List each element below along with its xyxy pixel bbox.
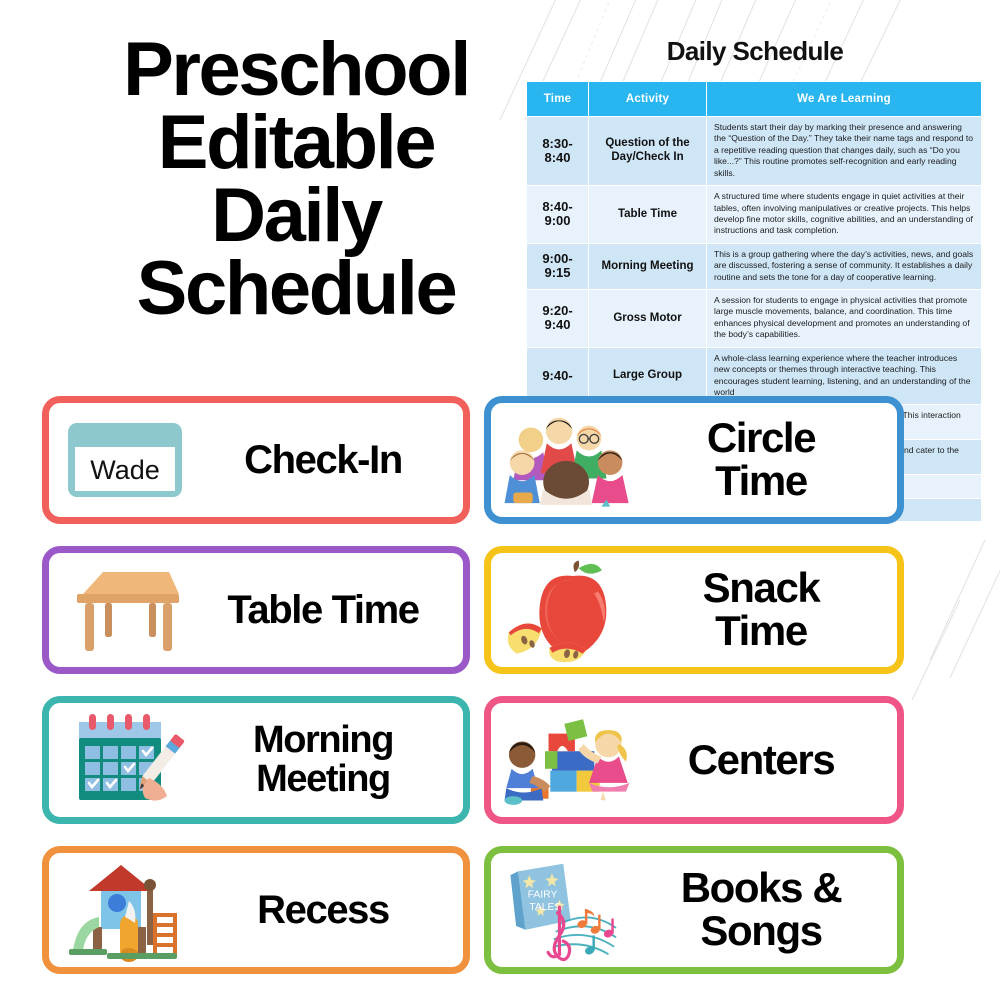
cell-activity: Gross Motor — [589, 290, 707, 348]
cell-time: 9:20- 9:40 — [527, 290, 589, 348]
right-card-column: Circle Time Sn — [484, 396, 904, 996]
column-header-learning: We Are Learning — [707, 82, 982, 117]
card-label: Table Time — [191, 590, 463, 630]
poster-canvas: Preschool Editable Daily Schedule Daily … — [0, 0, 1000, 1000]
card-label: Morning Meeting — [191, 721, 463, 799]
column-header-activity: Activity — [589, 82, 707, 117]
card-label: Circle Time — [633, 417, 897, 503]
title-line-4: Schedule — [96, 253, 496, 326]
card-label: Snack Time — [633, 567, 897, 653]
cell-learning: A structured time where students engage … — [707, 186, 982, 244]
card-recess[interactable]: Recess — [42, 846, 470, 974]
card-centers[interactable]: Centers — [484, 696, 904, 824]
card-label: Recess — [191, 890, 463, 930]
cell-learning: This is a group gathering where the day’… — [707, 243, 982, 289]
name-tag-text: Wade — [90, 455, 160, 485]
book-title-line-2: TALES — [529, 902, 561, 913]
cell-time: 9:00- 9:15 — [527, 243, 589, 289]
card-morning-meeting[interactable]: Morning Meeting — [42, 696, 470, 824]
card-circle-time[interactable]: Circle Time — [484, 396, 904, 524]
book-music-icon: FAIRY TALES — [501, 854, 633, 966]
title-line-1: Preschool — [96, 34, 496, 107]
sheet-title: Daily Schedule — [520, 36, 990, 67]
name-tag-icon: Wade — [59, 404, 191, 516]
card-snack-time[interactable]: Snack Time — [484, 546, 904, 674]
card-check-in[interactable]: Wade Check-In — [42, 396, 470, 524]
blocks-kids-icon — [501, 704, 633, 816]
calendar-icon — [59, 704, 191, 816]
card-books-songs[interactable]: FAIRY TALES — [484, 846, 904, 974]
card-table-time[interactable]: Table Time — [42, 546, 470, 674]
card-label: Centers — [633, 739, 897, 781]
playground-icon — [59, 854, 191, 966]
cell-time: 8:40- 9:00 — [527, 186, 589, 244]
table-icon — [59, 554, 191, 666]
table-row: 8:40- 9:00 Table Time A structured time … — [527, 186, 982, 244]
cell-activity: Table Time — [589, 186, 707, 244]
cell-activity: Question of the Day/Check In — [589, 117, 707, 186]
title-line-2: Editable — [96, 107, 496, 180]
card-label: Check-In — [191, 440, 463, 480]
table-header-row: Time Activity We Are Learning — [527, 82, 982, 117]
book-title-line-1: FAIRY — [528, 890, 558, 901]
cell-time: 8:30- 8:40 — [527, 117, 589, 186]
table-row: 9:00- 9:15 Morning Meeting This is a gro… — [527, 243, 982, 289]
apple-icon — [501, 554, 633, 666]
cell-activity: Morning Meeting — [589, 243, 707, 289]
column-header-time: Time — [527, 82, 589, 117]
children-group-icon — [501, 404, 633, 516]
cell-learning: Students start their day by marking thei… — [707, 117, 982, 186]
title-line-3: Daily — [96, 180, 496, 253]
page-title: Preschool Editable Daily Schedule — [96, 34, 496, 326]
table-row: 8:30- 8:40 Question of the Day/Check In … — [527, 117, 982, 186]
cell-learning: A session for students to engage in phys… — [707, 290, 982, 348]
card-label: Books & Songs — [633, 867, 897, 953]
left-card-column: Wade Check-In Table Time — [42, 396, 470, 996]
table-row: 9:20- 9:40 Gross Motor A session for stu… — [527, 290, 982, 348]
